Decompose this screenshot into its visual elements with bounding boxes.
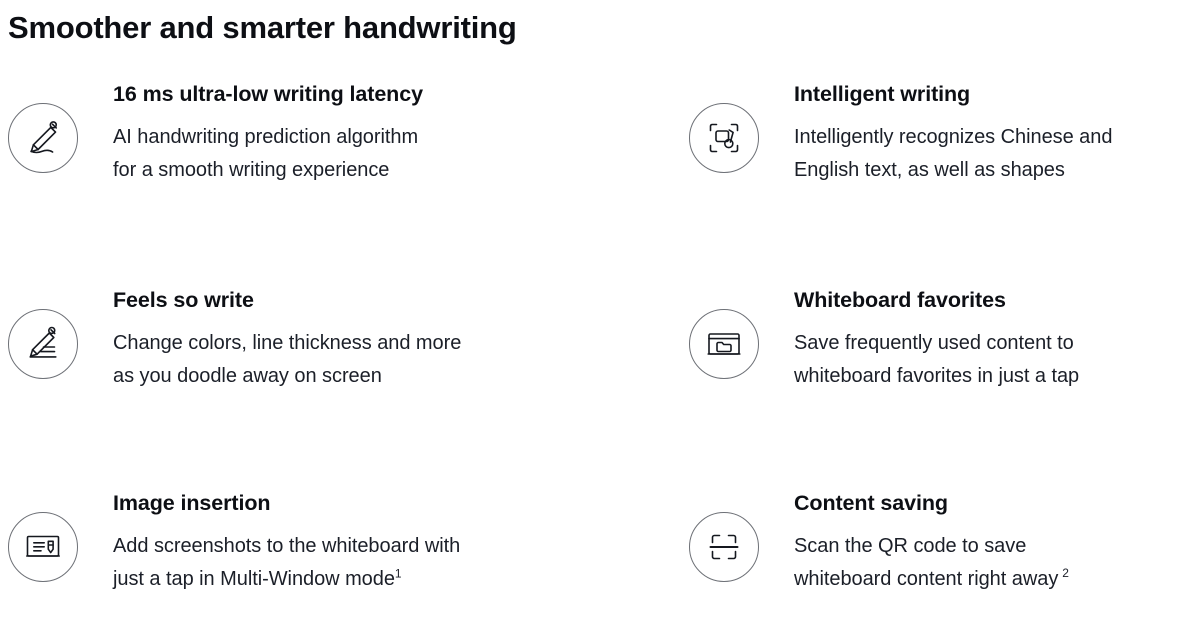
footnote-marker: 2 xyxy=(1062,566,1069,580)
desc-line-text: for a smooth writing experience xyxy=(113,159,389,181)
desc-line: as you doodle away on screen xyxy=(113,360,461,393)
pen-lines-icon xyxy=(8,309,78,379)
desc-line-text: English text, as well as shapes xyxy=(794,159,1065,181)
feature-card-writing-latency: 16 ms ultra-low writing latency AI handw… xyxy=(0,72,676,278)
feature-text: Intelligent writing Intelligently recogn… xyxy=(794,72,1112,187)
feature-text: Feels so write Change colors, line thick… xyxy=(113,278,461,393)
whiteboard-folder-icon xyxy=(689,309,759,379)
desc-line-text: as you doodle away on screen xyxy=(113,365,382,387)
desc-line: just a tap in Multi-Window mode1 xyxy=(113,563,460,596)
desc-line: AI handwriting prediction algorithm xyxy=(113,121,423,154)
whiteboard-pen-icon xyxy=(8,512,78,582)
features-grid: 16 ms ultra-low writing latency AI handw… xyxy=(0,72,1200,596)
desc-line: Add screenshots to the whiteboard with xyxy=(113,530,460,563)
feature-title: Image insertion xyxy=(113,490,460,516)
desc-line: whiteboard favorites in just a tap xyxy=(794,360,1079,393)
desc-line: Intelligently recognizes Chinese and xyxy=(794,121,1112,154)
feature-title: Feels so write xyxy=(113,287,461,313)
feature-card-content-saving: Content saving Scan the QR code to save … xyxy=(676,481,1200,596)
desc-line: Save frequently used content to xyxy=(794,327,1079,360)
feature-description: Change colors, line thickness and more a… xyxy=(113,327,461,393)
desc-line: Scan the QR code to save xyxy=(794,530,1069,563)
desc-line-text: just a tap in Multi-Window mode xyxy=(113,568,395,590)
qr-scan-icon xyxy=(689,512,759,582)
feature-description: AI handwriting prediction algorithm for … xyxy=(113,121,423,187)
feature-text: 16 ms ultra-low writing latency AI handw… xyxy=(113,72,423,187)
feature-title: Whiteboard favorites xyxy=(794,287,1079,313)
feature-description: Save frequently used content to whiteboa… xyxy=(794,327,1079,393)
desc-line-text: whiteboard favorites in just a tap xyxy=(794,365,1079,387)
feature-card-image-insertion: Image insertion Add screenshots to the w… xyxy=(0,481,676,596)
feature-title: Content saving xyxy=(794,490,1069,516)
feature-card-intelligent-writing: Intelligent writing Intelligently recogn… xyxy=(676,72,1200,278)
feature-description: Intelligently recognizes Chinese and Eng… xyxy=(794,121,1112,187)
feature-highlights-page: Smoother and smarter handwriting 16 ms u… xyxy=(0,0,1200,622)
feature-card-whiteboard-favorites: Whiteboard favorites Save frequently use… xyxy=(676,278,1200,481)
pen-writing-stroke-icon xyxy=(8,103,78,173)
shape-recognition-icon xyxy=(689,103,759,173)
feature-text: Image insertion Add screenshots to the w… xyxy=(113,481,460,596)
feature-card-feels-so-write: Feels so write Change colors, line thick… xyxy=(0,278,676,481)
desc-line: for a smooth writing experience xyxy=(113,154,423,187)
desc-line: Change colors, line thickness and more xyxy=(113,327,461,360)
feature-description: Add screenshots to the whiteboard with j… xyxy=(113,530,460,596)
footnote-marker: 1 xyxy=(395,566,402,580)
desc-line: whiteboard content right away2 xyxy=(794,563,1069,596)
feature-title: 16 ms ultra-low writing latency xyxy=(113,81,423,107)
feature-description: Scan the QR code to save whiteboard cont… xyxy=(794,530,1069,596)
desc-line-text: whiteboard content right away xyxy=(794,568,1058,590)
feature-text: Content saving Scan the QR code to save … xyxy=(794,481,1069,596)
desc-line: English text, as well as shapes xyxy=(794,154,1112,187)
page-title: Smoother and smarter handwriting xyxy=(8,6,517,50)
feature-title: Intelligent writing xyxy=(794,81,1112,107)
feature-text: Whiteboard favorites Save frequently use… xyxy=(794,278,1079,393)
